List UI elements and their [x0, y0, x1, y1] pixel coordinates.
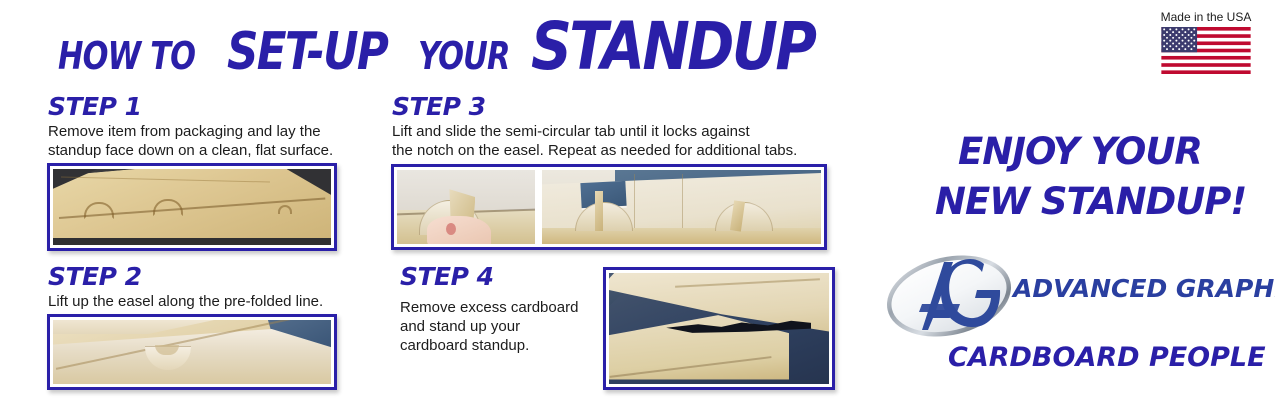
- poster-canvas: HOW TO SET-UP YOUR STANDUP STEP 1 Remove…: [0, 0, 1275, 417]
- title-part-4: STANDUP: [531, 14, 814, 80]
- usa-flag-icon: [1150, 27, 1262, 74]
- title-part-2: SET-UP: [227, 26, 387, 78]
- title-part-1: HOW TO: [58, 37, 195, 75]
- promo-line-1: ENJOY YOUR: [958, 133, 1202, 170]
- step-4-photo-scene: [609, 273, 829, 384]
- step-3-heading: STEP 3: [392, 94, 486, 119]
- step-2-photo-scene: [53, 320, 331, 384]
- brand-name: ADVANCED GRAPHICS: [1013, 274, 1275, 303]
- advanced-graphics-logo-icon: [878, 248, 1020, 344]
- step-4-photo: [603, 267, 835, 390]
- title-part-3: YOUR: [418, 37, 510, 75]
- promo-line-2: NEW STANDUP!: [935, 183, 1246, 220]
- step-3-body: Lift and slide the semi-circular tab unt…: [392, 122, 842, 160]
- step-3-photo: [391, 164, 827, 250]
- step-2-heading: STEP 2: [48, 264, 142, 289]
- step-3-photo-right-scene: [542, 170, 821, 244]
- step-1-photo-scene: [53, 169, 331, 245]
- step-1-heading: STEP 1: [48, 94, 142, 119]
- step-3-photo-left-scene: [397, 170, 535, 244]
- brand-tagline: CARDBOARD PEOPLE: [948, 342, 1266, 373]
- page-title: HOW TO SET-UP YOUR STANDUP: [58, 14, 860, 80]
- made-in-usa-badge: Made in the USA: [1150, 10, 1262, 74]
- made-in-usa-label: Made in the USA: [1150, 10, 1262, 24]
- step-4-body: Remove excess cardboard and stand up you…: [400, 298, 620, 355]
- step-4-heading: STEP 4: [400, 264, 494, 289]
- step-1-photo: [47, 163, 337, 251]
- step-2-body: Lift up the easel along the pre-folded l…: [48, 292, 368, 311]
- step-1-body: Remove item from packaging and lay the s…: [48, 122, 368, 160]
- step-2-photo: [47, 314, 337, 390]
